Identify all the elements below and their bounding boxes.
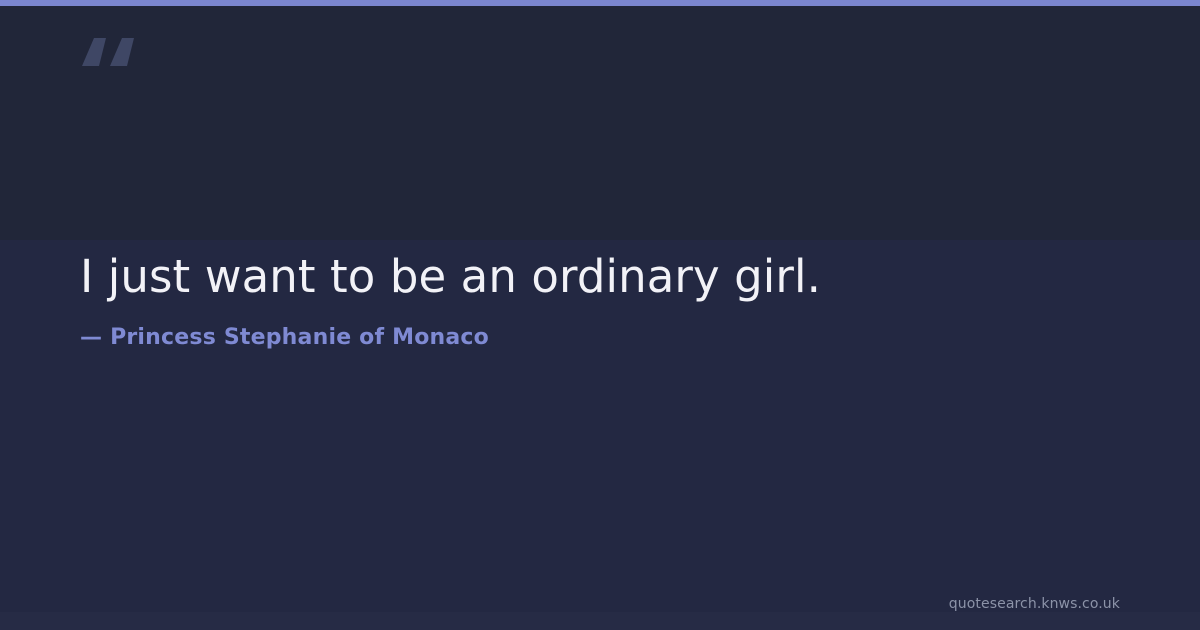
quote-content: I just want to be an ordinary girl. — Pr… [80,250,1120,350]
background-band-lower [0,612,1200,630]
quote-text: I just want to be an ordinary girl. [80,250,1120,305]
top-accent-bar [0,0,1200,6]
attribution-author-name: Princess Stephanie of Monaco [110,325,489,350]
quote-card: I just want to be an ordinary girl. — Pr… [0,0,1200,630]
site-watermark: quotesearch.knws.co.uk [949,596,1120,612]
double-quote-open-icon [80,26,140,86]
attribution-dash: — [80,325,102,350]
quote-attribution: — Princess Stephanie of Monaco [80,305,1120,350]
background-band-upper [0,6,1200,240]
